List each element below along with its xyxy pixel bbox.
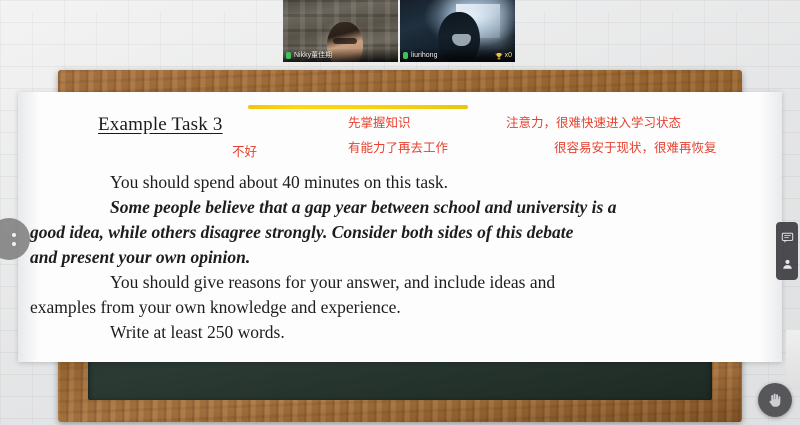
annotation-mid-1: 先掌握知识 [348, 115, 411, 131]
annotation-buhao: 不好 [232, 144, 257, 160]
screen-root: Nikky董佳期 liurihong x0 [0, 0, 800, 425]
video-tile-2-label: liurihong x0 [400, 49, 515, 62]
participant-name-2: liurihong [411, 51, 437, 60]
document-line: examples from your own knowledge and exp… [30, 295, 750, 320]
trophy-icon [495, 52, 503, 60]
document-line: Write at least 250 words. [30, 320, 750, 345]
annotation-right-1: 注意力，很难快速进入学习状态 [506, 115, 681, 131]
annotation-right-2: 很容易安于现状，很难再恢复 [554, 140, 717, 156]
side-toolbar [776, 222, 798, 280]
document-title: Example Task 3 [98, 114, 223, 136]
pan-tool-button[interactable] [758, 383, 792, 417]
document-line: You should spend about 40 minutes on thi… [30, 170, 750, 195]
video-participant-strip: Nikky董佳期 liurihong x0 [283, 0, 519, 62]
video-tile-1[interactable]: Nikky董佳期 [283, 0, 398, 62]
participants-button[interactable] [777, 253, 797, 277]
trophy-count: x0 [505, 52, 512, 60]
hand-icon [766, 391, 784, 409]
participants-icon [781, 258, 794, 271]
microphone-icon [286, 52, 291, 59]
handle-dot-icon [12, 242, 16, 246]
highlighter-stroke [248, 105, 468, 109]
trophy-badge: x0 [495, 52, 512, 60]
chat-button[interactable] [777, 225, 797, 249]
document-body: You should spend about 40 minutes on thi… [30, 170, 750, 345]
document-line: You should give reasons for your answer,… [30, 270, 750, 295]
handle-dot-icon [12, 233, 16, 237]
microphone-icon [403, 52, 408, 59]
page-edge-artifact [786, 330, 800, 390]
annotation-mid-2: 有能力了再去工作 [348, 140, 448, 156]
document-line: and present your own opinion. [30, 245, 750, 270]
chat-bubble-icon [781, 231, 794, 244]
document-line: good idea, while others disagree strongl… [30, 220, 750, 245]
video-tile-1-label: Nikky董佳期 [283, 49, 398, 62]
shared-document: Example Task 3 You should spend about 40… [18, 92, 782, 362]
participant-name-1: Nikky董佳期 [294, 51, 332, 60]
document-line: Some people believe that a gap year betw… [30, 195, 750, 220]
video-tile-2[interactable]: liurihong x0 [400, 0, 515, 62]
